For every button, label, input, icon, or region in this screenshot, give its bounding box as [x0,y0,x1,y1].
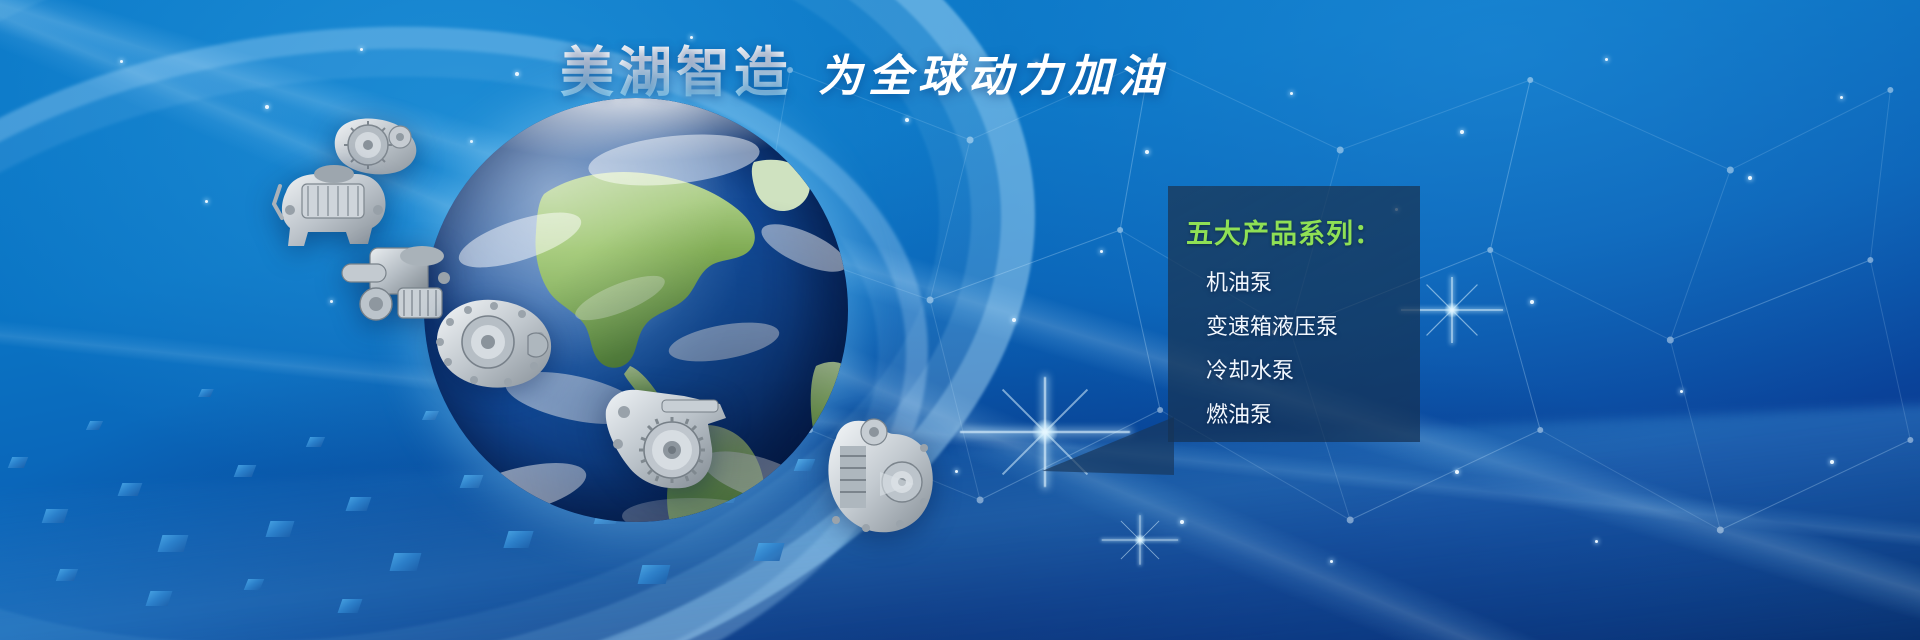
timing-cover-pump-part [820,412,946,540]
list-item[interactable]: 机油泵 [1206,273,1420,295]
product-series-panel: 五大产品系列： 机油泵 变速箱液压泵 冷却水泵 燃油泵 [1168,186,1420,442]
list-item[interactable]: 燃油泵 [1206,405,1420,427]
headline-secondary: 为全球动力加油 [818,40,1168,104]
fuel-pump-assembly-part [596,378,732,498]
list-item[interactable]: 冷却水泵 [1206,361,1420,383]
page-title: 美湖智造 为全球动力加油 [560,28,1168,107]
panel-title: 五大产品系列： [1186,212,1420,251]
hero-banner: 美湖智造 为全球动力加油 五大产品系列： 机油泵 变速箱液压泵 冷却水泵 燃油泵 [0,0,1920,640]
product-series-list: 机油泵 变速箱液压泵 冷却水泵 燃油泵 [1206,273,1420,427]
callout-pointer-tail [1042,417,1174,477]
oil-pump-body-part [424,292,560,402]
list-item[interactable]: 变速箱液压泵 [1206,317,1420,339]
headline-primary: 美湖智造 [560,28,792,107]
